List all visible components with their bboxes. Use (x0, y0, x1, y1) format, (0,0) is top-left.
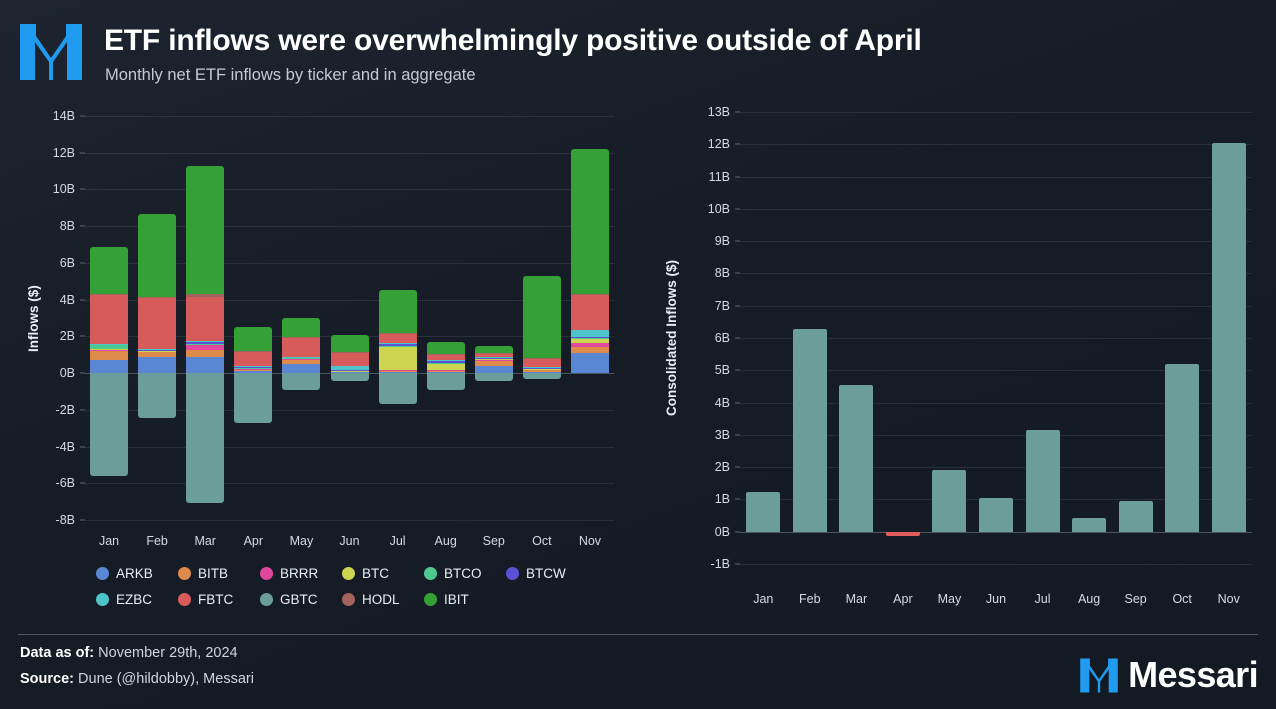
bar-segment-bitb (234, 369, 272, 371)
legend-swatch-icon (178, 567, 191, 580)
page-subtitle: Monthly net ETF inflows by ticker and in… (105, 66, 476, 85)
legend-item-ibit[interactable]: IBIT (424, 592, 469, 607)
stacked-bar[interactable] (523, 116, 561, 520)
y-tick-label: 2B (664, 460, 730, 474)
y-tick-label: 4B (9, 293, 75, 307)
legend-label: ARKB (116, 566, 153, 581)
bar-segment-bitb (571, 347, 609, 352)
x-tick-label: Mar (181, 534, 229, 548)
y-tickmark (735, 144, 740, 145)
x-tick-label: Jun (325, 534, 373, 548)
y-tick-label: 3B (664, 428, 730, 442)
bar-segment-gbtc (475, 373, 513, 381)
bar-segment-btco (138, 350, 176, 351)
bar-segment-bitb (379, 371, 417, 372)
bar-segment-btc (186, 344, 224, 345)
bar-segment-btc (427, 363, 465, 370)
bar-segment-ibit (282, 318, 320, 337)
bar-segment-gbtc (523, 373, 561, 379)
legend-item-btco[interactable]: BTCO (424, 566, 482, 581)
bar-segment-bitb (186, 350, 224, 357)
legend-label: BTC (362, 566, 389, 581)
y-tick-label: 4B (664, 396, 730, 410)
bar-segment-bitb (331, 371, 369, 372)
bar-segment-bitb (90, 350, 128, 360)
legend-swatch-icon (424, 593, 437, 606)
bar-segment-brrr (379, 370, 417, 371)
x-tick-label: Sep (470, 534, 518, 548)
bar-segment-ibit (523, 276, 561, 359)
legend-swatch-icon (96, 567, 109, 580)
bar-segment-btcw (427, 360, 465, 363)
bar-segment-fbtc (138, 298, 176, 350)
bar-segment-arkb (90, 360, 128, 373)
bar-segment-ibit (427, 342, 465, 354)
bar-segment-ezbc (282, 357, 320, 358)
bar-segment-ezbc (331, 366, 369, 370)
y-tickmark (735, 434, 740, 435)
bar-segment-brrr (427, 370, 465, 371)
bar-segment-btco (186, 344, 224, 345)
x-tick-label: Feb (787, 592, 834, 606)
gridline (740, 144, 1252, 145)
y-tick-label: -4B (9, 440, 75, 454)
y-tick-label: -6B (9, 476, 75, 490)
consolidated-bar[interactable] (932, 470, 966, 532)
y-tick-label: 12B (664, 137, 730, 151)
consolidated-bar[interactable] (886, 532, 920, 536)
bar-segment-arkb (282, 364, 320, 374)
consolidated-bar[interactable] (1119, 501, 1153, 532)
legend-swatch-icon (506, 567, 519, 580)
y-tickmark (735, 467, 740, 468)
y-tickmark (80, 226, 85, 227)
legend-swatch-icon (96, 593, 109, 606)
x-tick-label: Jul (374, 534, 422, 548)
y-tickmark (80, 116, 85, 117)
data-as-of-label: Data as of: (20, 645, 94, 661)
x-tick-label: Mar (833, 592, 880, 606)
stacked-bar[interactable] (331, 116, 369, 520)
bar-segment-btco (379, 346, 417, 347)
x-tick-label: May (926, 592, 973, 606)
legend-label: FBTC (198, 592, 233, 607)
legend-item-gbtc[interactable]: GBTC (260, 592, 318, 607)
y-tick-label: 13B (664, 105, 730, 119)
x-tick-label: Nov (566, 534, 614, 548)
y-tick-label: 14B (9, 109, 75, 123)
x-tick-label: Aug (422, 534, 470, 548)
header: ETF inflows were overwhelmingly positive… (0, 0, 1276, 100)
stacked-bar[interactable] (379, 116, 417, 520)
consolidated-bar[interactable] (746, 492, 780, 531)
bar-segment-ibit (475, 346, 513, 353)
stacked-inflows-chart: Inflows ($) 14B12B10B8B6B4B2B0B-2B-4B-6B… (0, 100, 640, 620)
bar-segment-ibit (234, 327, 272, 351)
infographic-root: ETF inflows were overwhelmingly positive… (0, 0, 1276, 709)
y-tick-label: 10B (9, 182, 75, 196)
y-tickmark (80, 152, 85, 153)
legend-item-hodl[interactable]: HODL (342, 592, 400, 607)
y-tick-label: 6B (664, 331, 730, 345)
bar-segment-gbtc (186, 373, 224, 503)
x-tick-label: May (277, 534, 325, 548)
y-tick-label: 0B (9, 366, 75, 380)
gridline (740, 241, 1252, 242)
y-tickmark (735, 402, 740, 403)
bar-segment-brrr (186, 345, 224, 350)
x-tick-label: Feb (133, 534, 181, 548)
messari-logo-icon (18, 22, 84, 82)
y-tickmark (80, 409, 85, 410)
bar-segment-ibit (571, 149, 609, 294)
bar-segment-fbtc (90, 295, 128, 344)
stacked-bar[interactable] (90, 116, 128, 520)
bar-segment-bitb (138, 351, 176, 356)
stacked-bar[interactable] (282, 116, 320, 520)
legend-item-arkb[interactable]: ARKB (96, 566, 153, 581)
y-tickmark (80, 483, 85, 484)
x-tick-label: Sep (1112, 592, 1159, 606)
bar-segment-gbtc (331, 373, 369, 381)
consolidated-bar[interactable] (1212, 143, 1246, 532)
bar-segment-fbtc (523, 359, 561, 368)
y-tick-label: -2B (9, 403, 75, 417)
legend-label: BTCW (526, 566, 566, 581)
legend-label: BITB (198, 566, 228, 581)
bar-segment-ezbc (90, 344, 128, 345)
gridline (740, 273, 1252, 274)
bar-segment-bitb (427, 371, 465, 372)
x-tick-label: Jan (740, 592, 787, 606)
bar-segment-ezbc (571, 330, 609, 337)
legend-swatch-icon (424, 567, 437, 580)
bar-segment-bitb (523, 369, 561, 372)
page-title: ETF inflows were overwhelmingly positive… (104, 24, 922, 58)
consolidated-bar[interactable] (839, 385, 873, 532)
y-tickmark (735, 564, 740, 565)
bar-segment-ezbc (186, 341, 224, 342)
y-tick-label: 8B (9, 219, 75, 233)
bar-segment-fbtc (234, 351, 272, 366)
y-tickmark (735, 531, 740, 532)
y-tickmark (80, 262, 85, 263)
source-line: Source: Dune (@hildobby), Messari (20, 671, 254, 687)
bar-segment-btcw (186, 342, 224, 344)
y-tick-label: -8B (9, 513, 75, 527)
y-tickmark (80, 299, 85, 300)
legend-item-ezbc[interactable]: EZBC (96, 592, 152, 607)
source-label: Source: (20, 671, 74, 687)
consolidated-bar[interactable] (1026, 430, 1060, 532)
bar-segment-gbtc (379, 373, 417, 404)
bar-segment-arkb (138, 357, 176, 374)
y-tick-label: 6B (9, 256, 75, 270)
y-tickmark (735, 370, 740, 371)
legend-item-fbtc[interactable]: FBTC (178, 592, 233, 607)
y-tick-label: 1B (664, 492, 730, 506)
legend-item-btc[interactable]: BTC (342, 566, 389, 581)
bar-segment-btco (571, 338, 609, 339)
brand-logo: Messari (1079, 653, 1258, 697)
bar-segment-gbtc (427, 373, 465, 390)
bar-segment-bitb (282, 360, 320, 364)
bar-segment-gbtc (138, 373, 176, 417)
legend-swatch-icon (178, 593, 191, 606)
bar-segment-ibit (138, 214, 176, 298)
y-tick-label: 8B (664, 266, 730, 280)
stacked-bar[interactable] (427, 116, 465, 520)
bar-segment-fbtc (427, 354, 465, 360)
data-as-of-value: November 29th, 2024 (98, 645, 237, 661)
legend-swatch-icon (260, 567, 273, 580)
legend: ARKBBITBBRRRBTCBTCOBTCWEZBCFBTCGBTCHODLI… (96, 566, 616, 620)
y-tick-label: 10B (664, 202, 730, 216)
gridline (740, 306, 1252, 307)
bar-segment-ibit (379, 290, 417, 334)
bar-segment-ezbc (427, 360, 465, 361)
bar-segment-gbtc (90, 373, 128, 476)
y-tickmark (80, 373, 85, 374)
bar-segment-fbtc (475, 353, 513, 357)
bar-segment-btc (282, 358, 320, 359)
bar-segment-gbtc (282, 373, 320, 390)
legend-swatch-icon (342, 593, 355, 606)
legend-swatch-icon (260, 593, 273, 606)
legend-label: EZBC (116, 592, 152, 607)
y-tickmark (735, 273, 740, 274)
legend-label: BTCO (444, 566, 482, 581)
legend-label: HODL (362, 592, 400, 607)
gridline (85, 520, 614, 521)
stacked-bar[interactable] (186, 116, 224, 520)
y-tick-label: 7B (664, 299, 730, 313)
gridline (740, 564, 1252, 565)
gridline (740, 177, 1252, 178)
x-tick-label: Jun (973, 592, 1020, 606)
bar-segment-hodl (186, 294, 224, 298)
bar-segment-hodl (571, 294, 609, 295)
bar-segment-fbtc (186, 297, 224, 341)
bar-segment-gbtc (234, 373, 272, 423)
y-tickmark (735, 305, 740, 306)
stacked-bar[interactable] (475, 116, 513, 520)
legend-swatch-icon (342, 567, 355, 580)
consolidated-bar[interactable] (979, 498, 1013, 532)
bar-segment-btco (90, 344, 128, 349)
legend-item-brrr[interactable]: BRRR (260, 566, 318, 581)
x-tick-label: Oct (518, 534, 566, 548)
bar-segment-btc (379, 346, 417, 370)
bar-segment-btcw (234, 367, 272, 368)
bar-segment-brrr (282, 359, 320, 360)
bar-segment-brrr (475, 360, 513, 361)
consolidated-bar[interactable] (1072, 518, 1106, 532)
bar-segment-ibit (331, 335, 369, 352)
x-tick-label: Jul (1019, 592, 1066, 606)
y-tickmark (80, 189, 85, 190)
y-tickmark (735, 338, 740, 339)
bar-segment-btcw (379, 344, 417, 346)
consolidated-inflows-chart: Consolidated Inflows ($) 13B12B11B10B9B8… (640, 100, 1276, 620)
bar-segment-btco (282, 358, 320, 359)
bar-segment-ibit (90, 247, 128, 295)
bar-segment-bitb (475, 361, 513, 367)
y-tickmark (735, 176, 740, 177)
bar-segment-ibit (186, 166, 224, 294)
y-tick-label: 11B (664, 170, 730, 184)
y-tickmark (735, 208, 740, 209)
data-as-of-line: Data as of: November 29th, 2024 (20, 645, 238, 661)
y-tick-label: 12B (9, 146, 75, 160)
bar-segment-brrr (90, 350, 128, 351)
x-tick-label: Oct (1159, 592, 1206, 606)
consolidated-bar[interactable] (793, 329, 827, 532)
bar-segment-btcw (571, 337, 609, 338)
legend-label: BRRR (280, 566, 318, 581)
bar-segment-ezbc (475, 357, 513, 358)
bar-segment-arkb (475, 366, 513, 373)
legend-item-bitb[interactable]: BITB (178, 566, 228, 581)
bar-segment-btc (475, 359, 513, 360)
x-tick-label: Jan (85, 534, 133, 548)
y-tick-label: 5B (664, 363, 730, 377)
legend-label: IBIT (444, 592, 469, 607)
y-tickmark (735, 499, 740, 500)
y-tick-label: 9B (664, 234, 730, 248)
gridline (740, 209, 1252, 210)
y-tickmark (735, 241, 740, 242)
bar-segment-fbtc (331, 353, 369, 366)
bar-segment-brrr (571, 343, 609, 348)
stacked-bar[interactable] (138, 116, 176, 520)
y-tickmark (80, 336, 85, 337)
messari-logo-icon (1079, 657, 1119, 694)
consolidated-bar[interactable] (1165, 364, 1199, 532)
y-tickmark (735, 112, 740, 113)
footer-divider (18, 634, 1258, 635)
y-tickmark (80, 446, 85, 447)
legend-item-btcw[interactable]: BTCW (506, 566, 566, 581)
y-tick-label: 0B (664, 525, 730, 539)
gridline (740, 112, 1252, 113)
source-value: Dune (@hildobby), Messari (78, 671, 254, 687)
y-tickmark (80, 520, 85, 521)
x-tick-label: Apr (229, 534, 277, 548)
stacked-bar[interactable] (234, 116, 272, 520)
bar-segment-btc (571, 339, 609, 343)
bar-segment-fbtc (282, 337, 320, 357)
brand-name: Messari (1128, 654, 1258, 696)
gridline (740, 532, 1252, 533)
x-tick-label: Apr (880, 592, 927, 606)
bar-segment-arkb (186, 357, 224, 373)
bar-segment-ezbc (379, 343, 417, 344)
y-tick-label: -1B (664, 557, 730, 571)
x-tick-label: Nov (1205, 592, 1252, 606)
legend-label: GBTC (280, 592, 318, 607)
bar-segment-fbtc (379, 334, 417, 344)
x-tick-label: Aug (1066, 592, 1113, 606)
stacked-bar[interactable] (571, 116, 609, 520)
bar-segment-arkb (571, 353, 609, 374)
bar-segment-fbtc (571, 295, 609, 330)
bar-segment-btco (475, 358, 513, 359)
y-tick-label: 2B (9, 329, 75, 343)
